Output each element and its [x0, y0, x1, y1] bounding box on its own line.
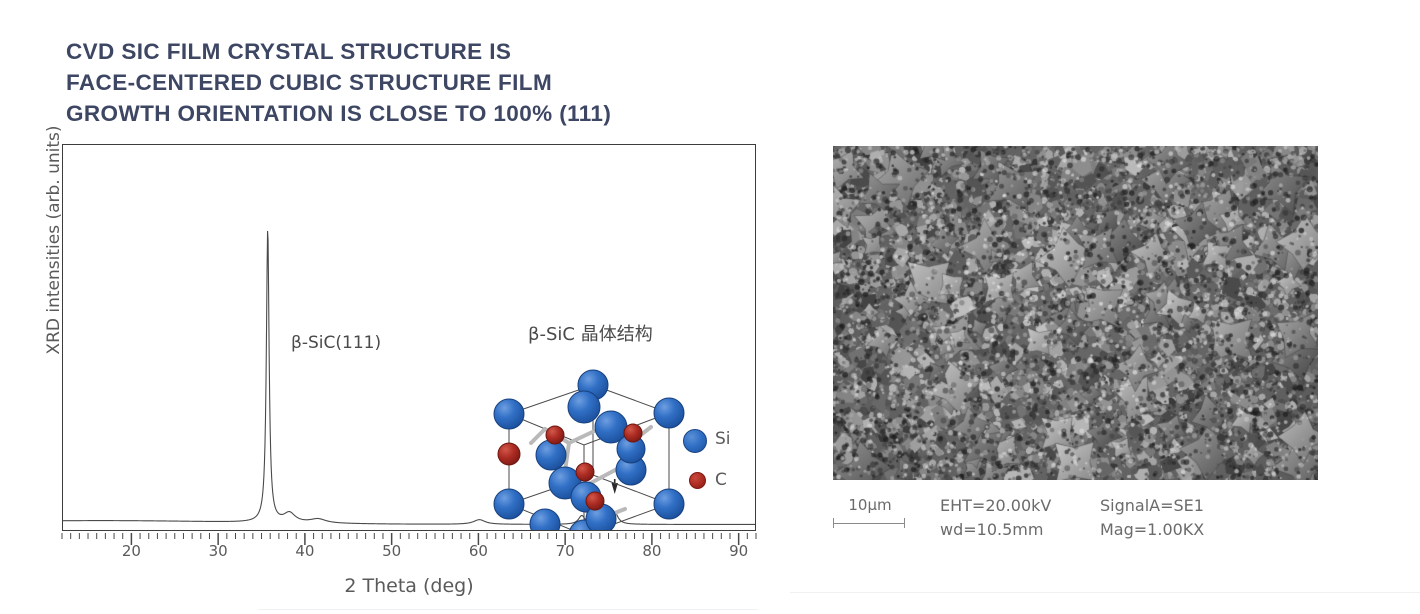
slide-root: CVD SIC FILM CRYSTAL STRUCTURE IS FACE-C… — [0, 0, 1420, 614]
sem-panel: SEM DATA OF CVD SIC FILM, CRYSTAL SIZE O… — [790, 0, 1420, 614]
crystal-structure-caption: β-SiC 晶体结构 — [528, 320, 653, 346]
sem-metadata: EHT=20.00kV SignalA=SE1 wd=10.5mm Mag=1.… — [940, 496, 1260, 539]
y-axis-label: XRD intensities (arb. units) — [44, 90, 64, 390]
x-tick-20: 20 — [122, 542, 141, 560]
legend-si-label: Si — [715, 429, 731, 449]
x-axis-label: 2 Theta (deg) — [62, 575, 756, 597]
peak-label-111: β-SiC(111) — [291, 333, 381, 353]
x-tick-30: 30 — [209, 542, 228, 560]
sem-scalebar-label: 10μm — [833, 496, 907, 514]
x-tick-60: 60 — [469, 542, 488, 560]
x-tick-40: 40 — [295, 542, 314, 560]
sem-scalebar-endcap — [904, 518, 905, 528]
xrd-plot-inner: β-SiC(111) β-SiC 晶体结构 β-SiC (311) β-SiC … — [63, 145, 755, 530]
x-tick-50: 50 — [382, 542, 401, 560]
sem-meta-eht: EHT=20.00kV — [940, 496, 1100, 515]
xrd-plot-area: β-SiC(111) β-SiC 晶体结构 β-SiC (311) β-SiC … — [62, 144, 756, 531]
sem-micrograph-image — [833, 146, 1318, 480]
slide-hairline-bottom — [790, 592, 1420, 593]
sem-meta-signal: SignalA=SE1 — [1100, 496, 1260, 515]
legend-si-icon — [683, 429, 707, 453]
legend-c-label: C — [715, 470, 727, 490]
slide-hairline-left-bottom — [258, 609, 758, 610]
x-tick-90: 90 — [729, 542, 748, 560]
sic-crystal-lattice-diagram — [483, 367, 693, 530]
x-tick-70: 70 — [556, 542, 575, 560]
xrd-panel: CVD SIC FILM CRYSTAL STRUCTURE IS FACE-C… — [0, 0, 790, 614]
x-tick-80: 80 — [642, 542, 661, 560]
sem-meta-mag: Mag=1.00KX — [1100, 520, 1260, 539]
sem-scalebar: 10μm — [833, 496, 913, 528]
left-panel-title: CVD SIC FILM CRYSTAL STRUCTURE IS FACE-C… — [66, 36, 766, 129]
sem-meta-wd: wd=10.5mm — [940, 520, 1100, 539]
legend-c-icon — [689, 472, 706, 489]
sem-scalebar-line — [833, 518, 905, 528]
